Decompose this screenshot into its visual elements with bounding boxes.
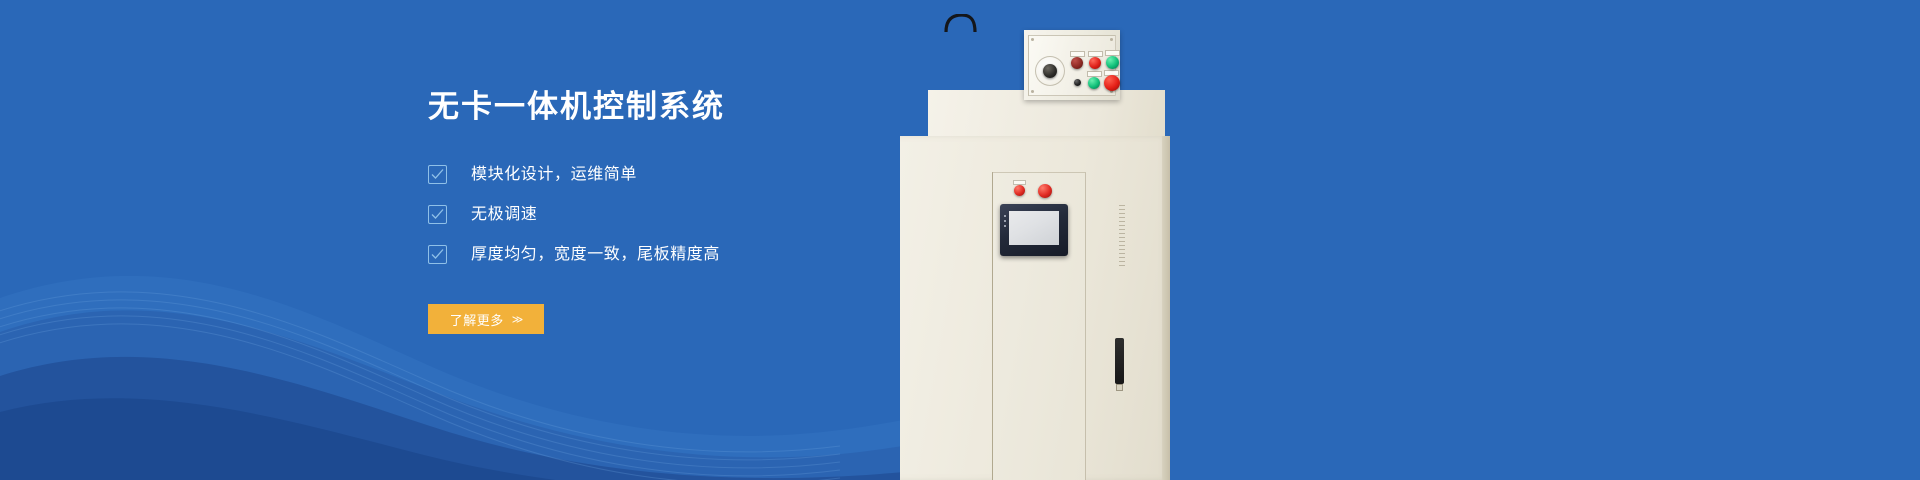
- feature-label: 模块化设计，运维简单: [471, 167, 637, 183]
- feature-label: 无极调速: [471, 207, 537, 223]
- rotary-selector-switch[interactable]: [1043, 64, 1057, 78]
- cabinet-door-handle: [1115, 338, 1124, 384]
- feature-label: 厚度均匀，宽度一致，尾板精度高: [471, 247, 720, 263]
- indicator-lamp-small: [1014, 185, 1025, 196]
- list-item: 无极调速: [428, 205, 898, 224]
- chevron-double-right-icon: ≫: [512, 313, 523, 326]
- banner-content: 无卡一体机控制系统 模块化设计，运维简单 无极调速: [428, 88, 898, 334]
- list-item: 厚度均匀，宽度一致，尾板精度高: [428, 245, 898, 264]
- check-icon: [428, 165, 447, 184]
- button-red[interactable]: [1089, 57, 1101, 69]
- feature-list: 模块化设计，运维简单 无极调速 厚度均匀，宽度一致，尾板精度高: [428, 165, 898, 264]
- emergency-stop-button[interactable]: [1104, 75, 1120, 91]
- ventilation-slots: [1119, 205, 1125, 267]
- screw-icon: [1031, 90, 1034, 93]
- hmi-status-leds: [1004, 215, 1006, 229]
- screw-icon: [1031, 38, 1034, 41]
- hmi-screen-display: [1009, 211, 1059, 245]
- button-dark-red[interactable]: [1071, 57, 1083, 69]
- button-green[interactable]: [1106, 56, 1119, 69]
- hmi-touchscreen: [1000, 204, 1068, 256]
- panel-seam: [992, 172, 993, 480]
- hero-banner: 无卡一体机控制系统 模块化设计，运维简单 无极调速: [0, 0, 1920, 480]
- check-icon: [428, 205, 447, 224]
- learn-more-button[interactable]: 了解更多 ≫: [428, 304, 544, 334]
- indicator-lamp-large: [1038, 184, 1052, 198]
- power-cable: [944, 14, 978, 32]
- page-title: 无卡一体机控制系统: [428, 88, 898, 125]
- button-green-start[interactable]: [1088, 77, 1100, 89]
- screw-icon: [1110, 38, 1113, 41]
- button-black-small[interactable]: [1074, 79, 1081, 86]
- cabinet-lock: [1116, 384, 1123, 391]
- machine-image: [896, 0, 1196, 480]
- check-icon: [428, 245, 447, 264]
- learn-more-label: 了解更多: [450, 310, 504, 329]
- operator-control-box: [1024, 30, 1120, 100]
- cabinet-right-edge: [1162, 136, 1170, 480]
- list-item: 模块化设计，运维简单: [428, 165, 898, 184]
